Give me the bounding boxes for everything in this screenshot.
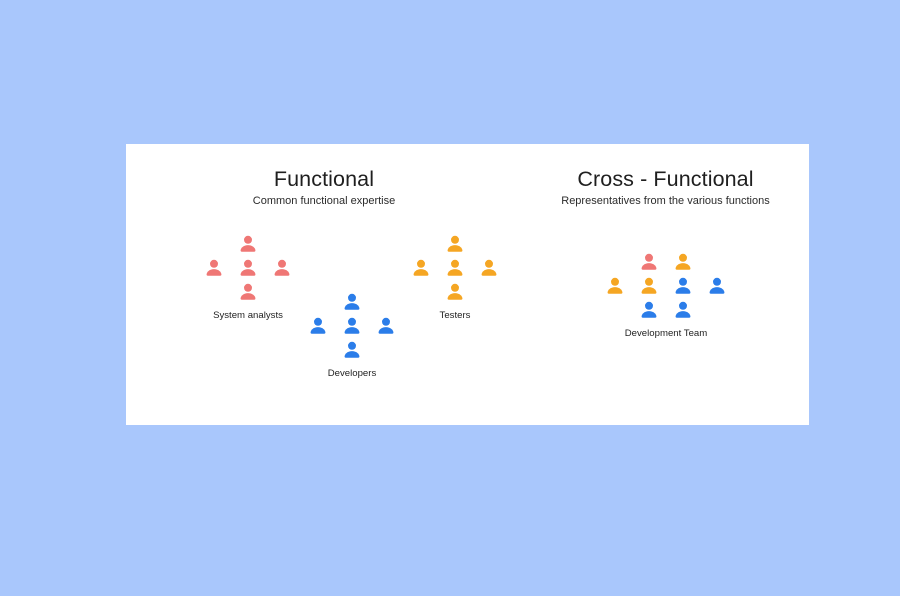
person-icon xyxy=(638,252,660,274)
panel-subtitle-cross-functional: Representatives from the various functio… xyxy=(522,196,809,207)
person-row xyxy=(438,282,472,304)
person-icon xyxy=(203,258,225,280)
person-row xyxy=(632,300,700,322)
person-icon xyxy=(410,258,432,280)
person-icon xyxy=(341,316,363,338)
person-icon xyxy=(444,234,466,256)
panel-functional: Functional Common functional expertise S… xyxy=(126,144,522,425)
person-row xyxy=(632,252,700,274)
person-icon xyxy=(444,258,466,280)
cluster-rows xyxy=(602,252,730,322)
slide-canvas: { "background_color": "#a9c7fc", "card":… xyxy=(0,0,900,596)
person-row xyxy=(301,316,403,338)
cluster-label-development-team: Development Team xyxy=(602,329,730,339)
person-icon xyxy=(341,292,363,314)
person-row xyxy=(404,258,506,280)
person-row xyxy=(231,282,265,304)
person-icon xyxy=(237,258,259,280)
panel-cross-functional: Cross - Functional Representatives from … xyxy=(522,144,809,425)
person-icon xyxy=(444,282,466,304)
person-icon xyxy=(604,276,626,298)
person-icon xyxy=(706,276,728,298)
person-row xyxy=(335,292,369,314)
cluster-testers: Testers xyxy=(391,234,519,321)
person-icon xyxy=(237,282,259,304)
person-row xyxy=(197,258,299,280)
slide-card: Functional Common functional expertise S… xyxy=(126,144,809,425)
person-icon xyxy=(672,252,694,274)
person-icon xyxy=(341,340,363,362)
cluster-development-team: Development Team xyxy=(602,252,730,339)
person-icon xyxy=(307,316,329,338)
person-icon xyxy=(237,234,259,256)
person-row xyxy=(231,234,265,256)
panel-title-cross-functional: Cross - Functional xyxy=(522,169,809,191)
panel-subtitle-functional: Common functional expertise xyxy=(126,196,522,207)
person-icon xyxy=(638,276,660,298)
person-row xyxy=(335,340,369,362)
person-row xyxy=(598,276,734,298)
person-icon xyxy=(638,300,660,322)
person-icon xyxy=(271,258,293,280)
cluster-rows xyxy=(391,234,519,304)
person-icon xyxy=(672,300,694,322)
panel-title-functional: Functional xyxy=(126,169,522,191)
person-icon xyxy=(478,258,500,280)
person-row xyxy=(438,234,472,256)
person-icon xyxy=(672,276,694,298)
cluster-label-developers: Developers xyxy=(288,369,416,379)
cluster-label-testers: Testers xyxy=(391,311,519,321)
